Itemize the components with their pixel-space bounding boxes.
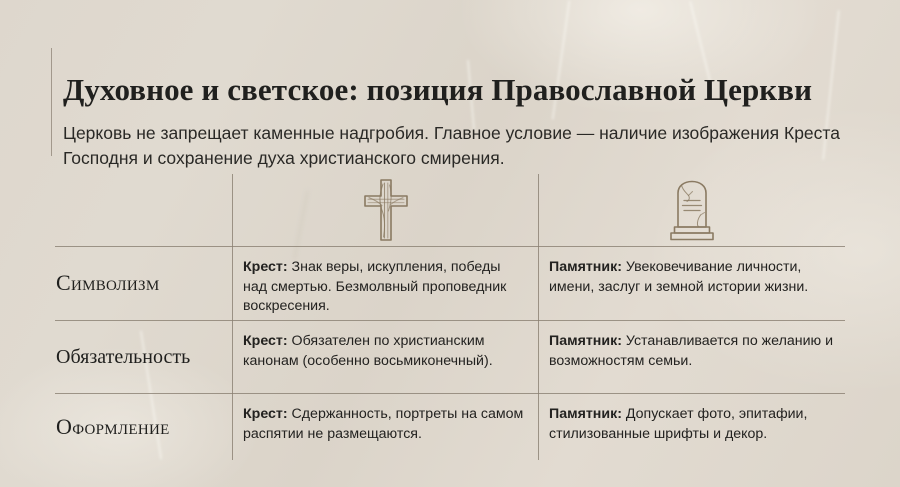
table-cell-cross: Крест: Знак веры, искупления, победы над… [243,258,528,317]
header-cell-cross [233,174,538,246]
row-label-text: Обязательность [56,345,190,369]
table-cell-monument: Памятник: Допускает фото, эпитафии, стил… [549,405,839,444]
cell-term: Памятник: [549,406,622,422]
table-cell-cross: Крест: Сдержанность, портреты на самом р… [243,405,528,444]
table-cell-monument: Памятник: Увековечивание личности, имени… [549,258,839,297]
row-label-text: Символизм [56,271,160,295]
table-cell-monument: Памятник: Устанавливается по желанию и в… [549,332,839,371]
table-row-label: Обязательность [56,320,228,393]
table-row-label: Оформление [56,393,228,460]
cell-term: Памятник: [549,333,622,349]
slide-canvas: Духовное и светское: позиция Православно… [0,0,900,487]
header-cell-tombstone [539,174,845,246]
cross-icon [363,178,409,242]
table-cell-cross: Крест: Обязателен по христианским канона… [243,332,528,371]
cell-term: Крест: [243,259,288,275]
cell-term: Крест: [243,333,288,349]
row-label-text: Оформление [56,415,170,439]
cell-term: Крест: [243,406,288,422]
table-row-label: Символизм [56,246,228,320]
cell-term: Памятник: [549,259,622,275]
comparison-table: Символизм Крест: Знак веры, искупления, … [0,0,900,487]
tombstone-icon [667,179,717,241]
